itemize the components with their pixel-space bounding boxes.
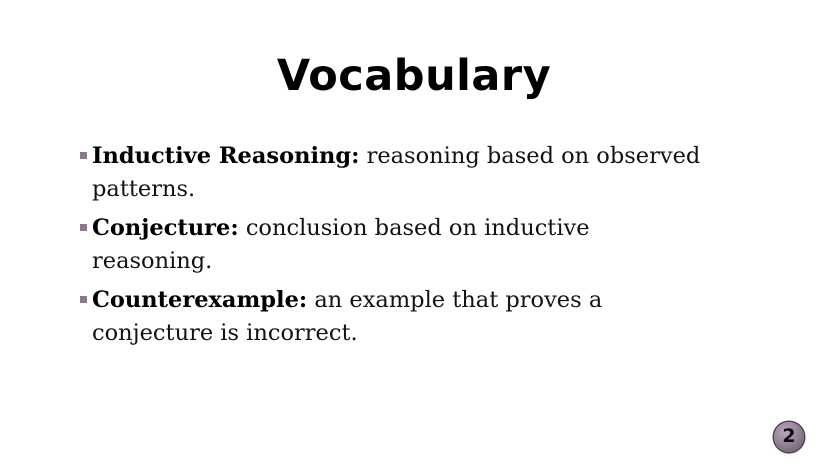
vocabulary-term: Counterexample:	[92, 287, 307, 313]
vocabulary-bullet-list: Inductive Reasoning: reasoning based on …	[80, 140, 705, 356]
page-title: Vocabulary	[0, 52, 828, 100]
list-item: Counterexample: an example that proves a…	[80, 284, 705, 350]
vocabulary-term: Conjecture:	[92, 215, 239, 241]
list-item: Inductive Reasoning: reasoning based on …	[80, 140, 705, 206]
slide-canvas: Vocabulary Inductive Reasoning: reasonin…	[0, 0, 828, 466]
square-bullet-icon	[80, 224, 87, 231]
square-bullet-icon	[80, 296, 87, 303]
page-number-label: 2	[782, 427, 795, 446]
square-bullet-icon	[80, 152, 87, 159]
page-number-badge: 2	[774, 422, 804, 452]
vocabulary-term: Inductive Reasoning:	[92, 143, 359, 169]
list-item: Conjecture: conclusion based on inductiv…	[80, 212, 705, 278]
